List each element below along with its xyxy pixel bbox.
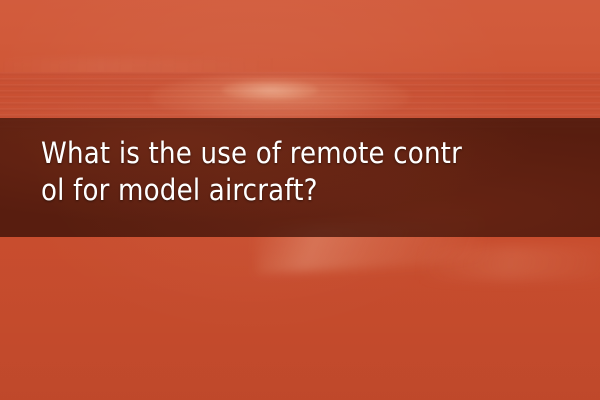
sun-glint-core (222, 80, 318, 100)
foreground-light-streak-secondary (420, 246, 600, 280)
question-card: What is the use of remote contr ol for m… (0, 0, 600, 400)
question-text: What is the use of remote contr ol for m… (41, 135, 586, 209)
